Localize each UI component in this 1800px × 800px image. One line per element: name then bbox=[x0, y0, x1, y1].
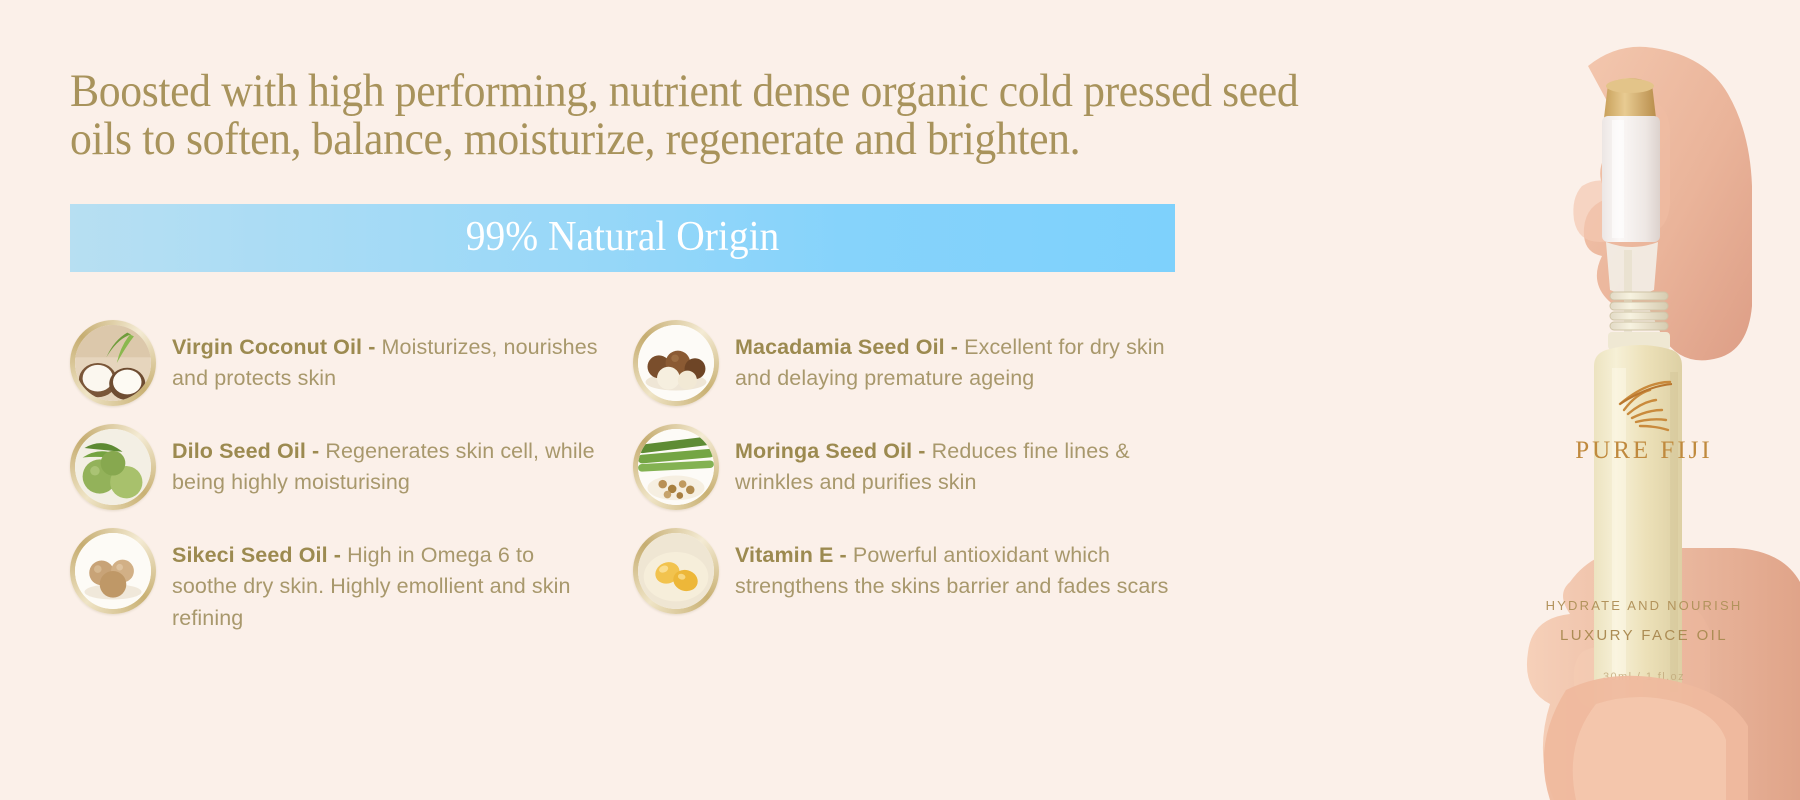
ingredient-text: Virgin Coconut Oil - Moisturizes, nouris… bbox=[172, 320, 600, 395]
ingredient-text: Dilo Seed Oil - Regenerates skin cell, w… bbox=[172, 424, 600, 499]
ingredient-name: Sikeci Seed Oil bbox=[172, 543, 328, 567]
ingredient-dash: - bbox=[328, 543, 347, 567]
macadamia-nut-icon bbox=[638, 325, 714, 401]
sikeci-seed-icon bbox=[75, 533, 151, 609]
ingredient-item: Sikeci Seed Oil - High in Omega 6 to soo… bbox=[70, 528, 600, 648]
ingredient-name: Macadamia Seed Oil bbox=[735, 335, 945, 359]
ingredient-text: Moringa Seed Oil - Reduces fine lines & … bbox=[735, 424, 1173, 499]
ingredient-thumbnail bbox=[633, 320, 719, 406]
ingredient-thumbnail bbox=[70, 528, 156, 614]
ingredient-item: Moringa Seed Oil - Reduces fine lines & … bbox=[633, 424, 1173, 510]
ingredient-dash: - bbox=[833, 543, 852, 567]
promo-banner-page: Boosted with high performing, nutrient d… bbox=[0, 0, 1800, 800]
ingredient-name: Vitamin E bbox=[735, 543, 833, 567]
ingredient-thumbnail bbox=[633, 424, 719, 510]
ingredient-item: Virgin Coconut Oil - Moisturizes, nouris… bbox=[70, 320, 600, 406]
svg-text:30ml / 1 fl.oz: 30ml / 1 fl.oz bbox=[1603, 671, 1685, 683]
svg-text:HYDRATE AND NOURISH: HYDRATE AND NOURISH bbox=[1546, 598, 1743, 613]
ingredient-column-right: Macadamia Seed Oil - Excellent for dry s… bbox=[633, 320, 1173, 666]
headline-line-2: oils to soften, balance, moisturize, reg… bbox=[70, 116, 1442, 164]
ingredient-thumbnail bbox=[633, 528, 719, 614]
headline-line-1: Boosted with high performing, nutrient d… bbox=[70, 68, 1442, 116]
ingredient-item: Macadamia Seed Oil - Excellent for dry s… bbox=[633, 320, 1173, 406]
ingredient-item: Vitamin E - Powerful antioxidant which s… bbox=[633, 528, 1173, 648]
ingredient-name: Virgin Coconut Oil bbox=[172, 335, 362, 359]
ingredient-dash: - bbox=[362, 335, 381, 359]
dilo-fruit-icon bbox=[75, 429, 151, 505]
ingredient-name: Moringa Seed Oil bbox=[735, 439, 912, 463]
moringa-pod-icon bbox=[638, 429, 714, 505]
coconut-icon bbox=[75, 325, 151, 401]
vitamin-e-capsule-icon bbox=[638, 533, 714, 609]
ingredient-dash: - bbox=[912, 439, 931, 463]
ingredient-text: Macadamia Seed Oil - Excellent for dry s… bbox=[735, 320, 1173, 395]
page-headline: Boosted with high performing, nutrient d… bbox=[70, 68, 1442, 164]
ingredient-column-left: Virgin Coconut Oil - Moisturizes, nouris… bbox=[70, 320, 600, 666]
ingredient-thumbnail bbox=[70, 320, 156, 406]
ingredient-item: Dilo Seed Oil - Regenerates skin cell, w… bbox=[70, 424, 600, 510]
ingredient-text: Sikeci Seed Oil - High in Omega 6 to soo… bbox=[172, 528, 600, 634]
ingredient-dash: - bbox=[306, 439, 325, 463]
ingredient-dash: - bbox=[945, 335, 964, 359]
ingredient-text: Vitamin E - Powerful antioxidant which s… bbox=[735, 528, 1173, 603]
svg-text:PURE FIJI: PURE FIJI bbox=[1575, 437, 1712, 464]
ingredient-thumbnail bbox=[70, 424, 156, 510]
ingredient-name: Dilo Seed Oil bbox=[172, 439, 306, 463]
natural-origin-label: 99% Natural Origin bbox=[103, 216, 1142, 258]
svg-text:LUXURY FACE OIL: LUXURY FACE OIL bbox=[1560, 627, 1728, 644]
natural-origin-banner: 99% Natural Origin bbox=[70, 204, 1175, 272]
